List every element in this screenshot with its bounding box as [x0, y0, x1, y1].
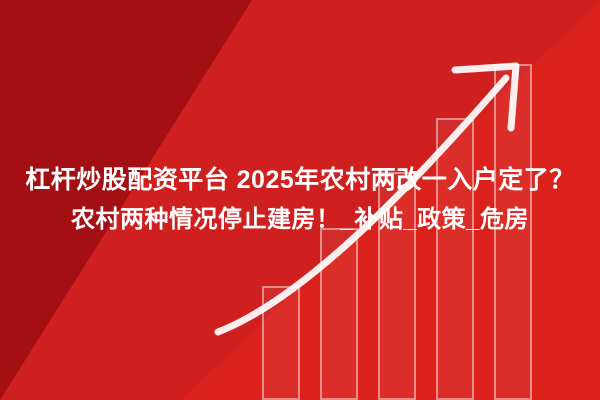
headline-line-1: 杠杆炒股配资平台 2025年农村两改一入户定了？: [0, 160, 600, 200]
promo-banner: 杠杆炒股配资平台 2025年农村两改一入户定了？ 农村两种情况停止建房！_补贴_…: [0, 0, 600, 400]
headline-line-2: 农村两种情况停止建房！_补贴_政策_危房: [0, 200, 600, 240]
headline-block: 杠杆炒股配资平台 2025年农村两改一入户定了？ 农村两种情况停止建房！_补贴_…: [0, 160, 600, 240]
